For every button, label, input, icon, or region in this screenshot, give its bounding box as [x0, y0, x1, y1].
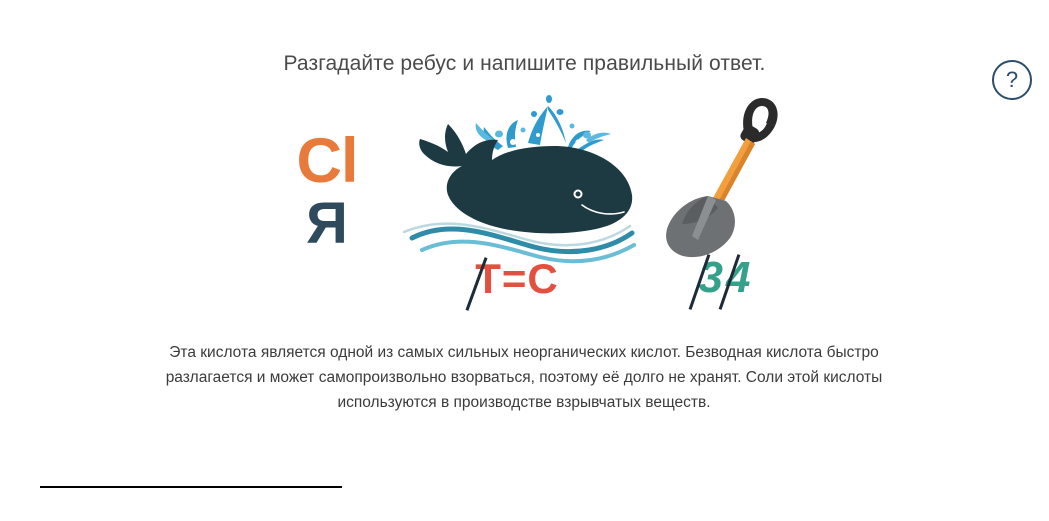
rebus-equation: Т=С — [452, 255, 582, 315]
whale-icon — [382, 90, 638, 265]
rebus-letter-cl: Cl — [272, 132, 382, 192]
rebus-numbers: 34 — [676, 253, 776, 315]
rebus-letters: Cl Я — [272, 132, 382, 251]
puzzle-description: Эта кислота является одной из самых силь… — [124, 340, 924, 415]
answer-input-line[interactable] — [40, 486, 342, 488]
rebus-puzzle-page: ? Разгадайте ребус и напишите правильный… — [0, 0, 1049, 521]
page-title: Разгадайте ребус и напишите правильный о… — [0, 52, 1049, 76]
rebus-illustration: Cl Я — [0, 90, 1049, 320]
rebus-letter-ya: Я — [272, 196, 382, 251]
shovel-icon — [658, 90, 788, 260]
